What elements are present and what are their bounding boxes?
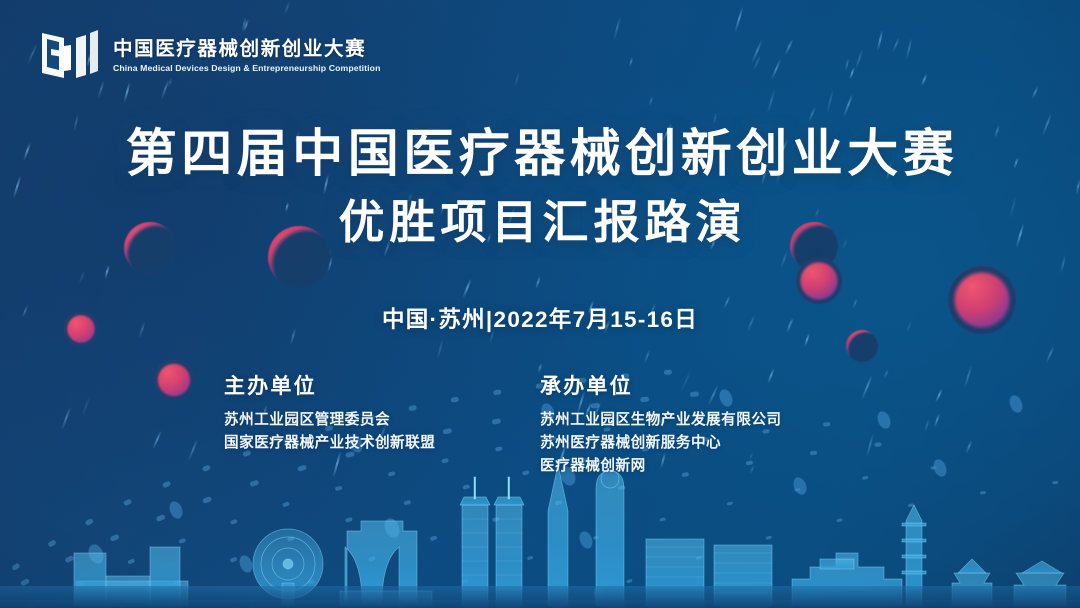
organizer-heading: 主办单位 xyxy=(224,370,540,400)
event-poster: 中国医疗器械创新创业大赛 China Medical Devices Desig… xyxy=(0,0,1080,608)
particle-tick xyxy=(804,333,810,347)
sphere-decoration xyxy=(846,330,878,362)
particle-tick xyxy=(751,39,763,63)
particle-tick xyxy=(808,106,816,122)
skyline-ground-band xyxy=(0,586,1080,608)
page-title: 第四届中国医疗器械创新创业大赛 xyxy=(0,124,1080,184)
particle-tick xyxy=(327,257,333,272)
sphere-decoration xyxy=(796,258,842,304)
particle-tick xyxy=(803,248,814,272)
particle-tick xyxy=(1059,255,1065,274)
logo-chinese-name: 中国医疗器械创新创业大赛 xyxy=(113,39,377,61)
particle-tick xyxy=(649,96,653,106)
particle-tick xyxy=(877,30,884,51)
particle-tick xyxy=(462,278,472,298)
particle-tick xyxy=(712,112,717,125)
organizer-column-co-host: 承办单位 苏州工业园区生物产业发展有限公司 苏州医疗器械创新服务中心 医疗器械创… xyxy=(540,370,856,478)
particle-tick xyxy=(283,1,290,15)
organizer-entry: 国家医疗器械产业技术创新联盟 xyxy=(224,432,540,455)
organizer-entry: 医疗器械创新网 xyxy=(540,455,856,478)
particle-tick xyxy=(535,275,541,288)
page-subtitle: 优胜项目汇报路演 xyxy=(0,195,1080,250)
particle-tick xyxy=(644,349,651,364)
poster-title-group: 第四届中国医疗器械创新创业大赛 优胜项目汇报路演 xyxy=(0,124,1080,250)
organizer-entry: 苏州医疗器械创新服务中心 xyxy=(540,432,856,455)
particle-tick xyxy=(826,89,834,114)
particle-tick xyxy=(844,57,849,70)
particle-tick xyxy=(104,265,109,279)
particle-tick xyxy=(514,71,520,88)
particle-tick xyxy=(905,38,912,60)
particle-tick xyxy=(767,89,776,114)
particle-tick xyxy=(842,93,853,117)
particle-tick xyxy=(613,16,621,41)
particle-tick xyxy=(26,44,38,66)
organizer-heading: 承办单位 xyxy=(540,370,856,400)
particle-tick xyxy=(734,6,744,32)
particle-tick xyxy=(1031,85,1039,100)
open-door-book-logo-icon xyxy=(38,26,100,84)
organizers-section: 主办单位 苏州工业园区管理委员会 国家医疗器械产业技术创新联盟 承办单位 苏州工… xyxy=(0,370,1080,478)
event-date-location: 中国·苏州|2022年7月15-16日 xyxy=(0,302,1080,334)
competition-logo: 中国医疗器械创新创业大赛 China Medical Devices Desig… xyxy=(38,26,377,84)
particle-tick xyxy=(892,37,900,52)
particle-tick xyxy=(779,251,787,270)
logo-english-name: China Medical Devices Design & Entrepren… xyxy=(113,63,381,73)
particle-tick xyxy=(123,82,130,103)
organizer-column-host: 主办单位 苏州工业园区管理委员会 国家医疗器械产业技术创新联盟 xyxy=(224,370,540,478)
particle-tick xyxy=(324,249,330,262)
particle-tick xyxy=(752,56,761,71)
organizer-entry: 苏州工业园区生物产业发展有限公司 xyxy=(540,409,856,432)
particle-tick xyxy=(855,50,864,71)
particle-tick xyxy=(771,58,782,80)
particle-tick xyxy=(79,271,86,285)
organizer-entry: 苏州工业园区管理委员会 xyxy=(224,409,540,432)
particle-tick xyxy=(1045,346,1055,364)
particle-tick xyxy=(785,38,795,55)
particle-tick xyxy=(920,73,928,87)
particle-tick xyxy=(849,67,855,80)
particle-tick xyxy=(628,57,633,67)
particle-tick xyxy=(436,339,443,360)
